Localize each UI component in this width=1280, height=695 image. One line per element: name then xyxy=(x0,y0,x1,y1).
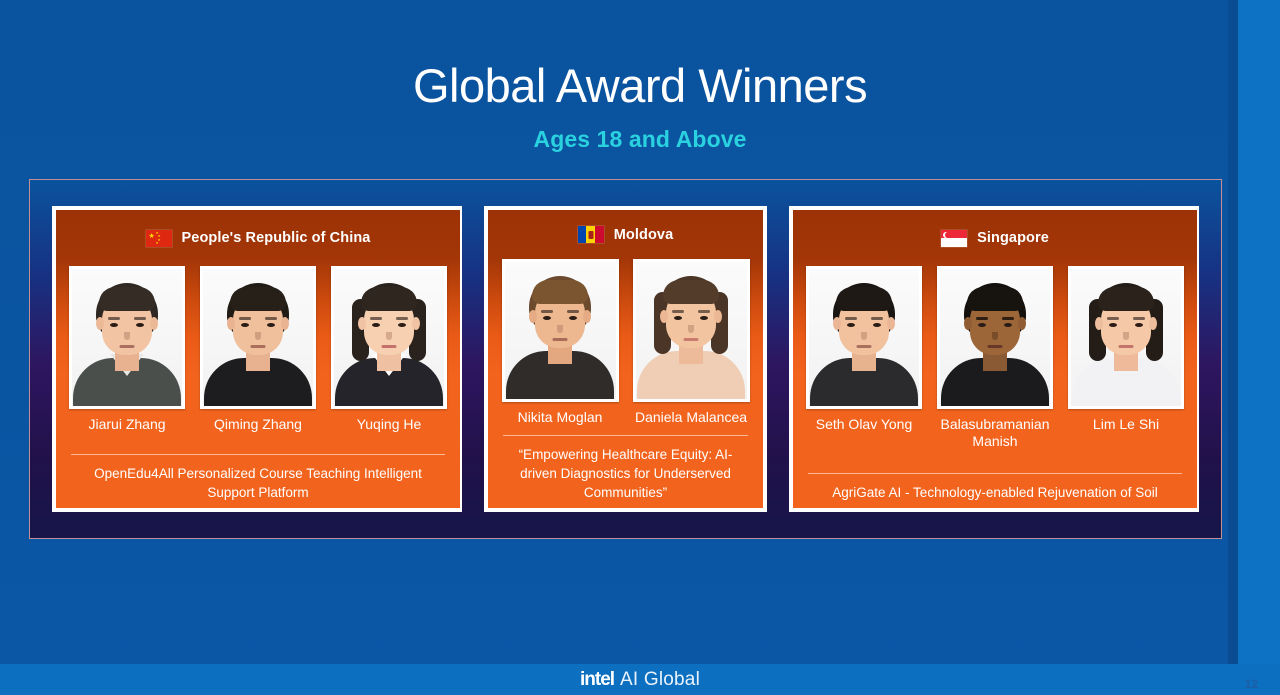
footer-bar: intel AI Global 12 xyxy=(0,664,1280,695)
intel-wordmark: intel xyxy=(580,669,614,691)
person-name-label: Yuqing He xyxy=(328,416,450,433)
portrait-photo xyxy=(1068,266,1184,409)
person-name-label: Lim Le Shi xyxy=(1065,416,1187,433)
person-name-label: Daniela Malancea xyxy=(630,409,752,426)
country-header: ★ ★ ★ ★ ★ People's Republic of China xyxy=(66,210,450,266)
intel-ai-global-logo: intel AI Global xyxy=(580,669,700,691)
person-card[interactable]: Nikita Moglan xyxy=(499,259,621,426)
person-name-label: Seth Olav Yong xyxy=(803,416,925,433)
project-title: OpenEdu4All Personalized Course Teaching… xyxy=(66,455,450,502)
page-number: 12 xyxy=(1245,677,1258,691)
country-name-label: Moldova xyxy=(614,227,674,243)
portrait-photo xyxy=(633,259,750,402)
flag-singapore-icon xyxy=(941,230,967,247)
country-panel-moldova: Moldova xyxy=(484,206,767,512)
person-card[interactable]: Lim Le Shi xyxy=(1065,266,1187,450)
person-name-label: Nikita Moglan xyxy=(499,409,621,426)
people-row: Jiarui Zhang xyxy=(66,266,450,433)
person-card[interactable]: Balasubramanian Manish xyxy=(934,266,1056,450)
portrait-photo xyxy=(937,266,1053,409)
portrait-photo xyxy=(502,259,619,402)
country-header: Singapore xyxy=(803,210,1187,266)
portrait-photo xyxy=(806,266,922,409)
portrait-photo xyxy=(331,266,447,409)
portrait-photo xyxy=(69,266,185,409)
country-header: Moldova xyxy=(498,210,753,259)
person-card[interactable]: Daniela Malancea xyxy=(630,259,752,426)
page-subtitle: Ages 18 and Above xyxy=(0,126,1280,153)
project-title: “Empowering Healthcare Equity: AI-driven… xyxy=(498,436,753,502)
people-row: Seth Olav Yong xyxy=(803,266,1187,450)
person-name-label: Balasubramanian Manish xyxy=(934,416,1056,450)
project-title: AgriGate AI - Technology-enabled Rejuven… xyxy=(803,474,1187,502)
country-panel-singapore: Singapore xyxy=(789,206,1199,512)
ai-global-wordmark: AI Global xyxy=(620,669,700,691)
country-name-label: People's Republic of China xyxy=(182,230,371,246)
winners-container: ★ ★ ★ ★ ★ People's Republic of China xyxy=(29,179,1222,539)
country-name-label: Singapore xyxy=(977,230,1049,246)
page-title: Global Award Winners xyxy=(0,58,1280,113)
flag-moldova-icon xyxy=(578,226,604,243)
person-name-label: Qiming Zhang xyxy=(197,416,319,433)
person-card[interactable]: Yuqing He xyxy=(328,266,450,433)
country-panel-china: ★ ★ ★ ★ ★ People's Republic of China xyxy=(52,206,462,512)
person-card[interactable]: Jiarui Zhang xyxy=(66,266,188,433)
person-card[interactable]: Seth Olav Yong xyxy=(803,266,925,450)
flag-china-icon: ★ ★ ★ ★ ★ xyxy=(146,230,172,247)
portrait-photo xyxy=(200,266,316,409)
person-name-label: Jiarui Zhang xyxy=(66,416,188,433)
people-row: Nikita Moglan xyxy=(498,259,753,426)
person-card[interactable]: Qiming Zhang xyxy=(197,266,319,433)
